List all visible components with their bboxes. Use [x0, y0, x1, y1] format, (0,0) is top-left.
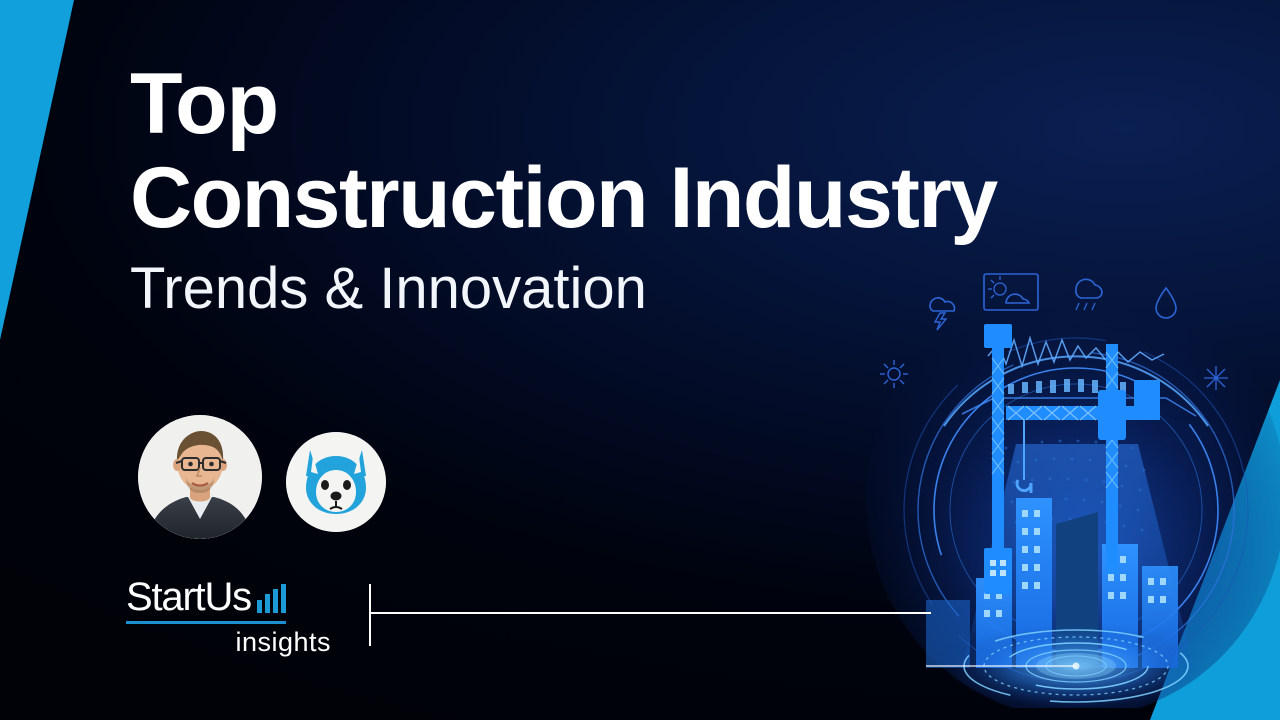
avatar: [286, 432, 386, 532]
logo-wordmark: StartUs: [126, 578, 251, 616]
logo-subword: insights: [126, 627, 331, 658]
sun-icon: [880, 360, 908, 388]
title-card: Top Construction Industry Trends & Innov…: [0, 0, 1280, 720]
bar-chart-icon: [257, 588, 286, 616]
logo-underline: [126, 621, 286, 624]
vertical-divider: [369, 584, 371, 646]
avatar-group: [138, 415, 386, 539]
horizontal-connector-line: [371, 612, 931, 614]
headline-block: Top Construction Industry Trends & Innov…: [130, 62, 1230, 322]
company-wolf-logo: [286, 432, 386, 532]
page-title-line1: Top: [130, 62, 1230, 146]
page-subtitle: Trends & Innovation: [130, 257, 1230, 322]
startus-insights-logo[interactable]: StartUs insights: [126, 578, 340, 658]
page-title-line2: Construction Industry: [130, 152, 1230, 245]
accent-diagonal-left: [0, 0, 130, 360]
avatar: [138, 415, 262, 539]
snowflake-icon: [1204, 366, 1228, 390]
author-portrait: [138, 415, 262, 539]
